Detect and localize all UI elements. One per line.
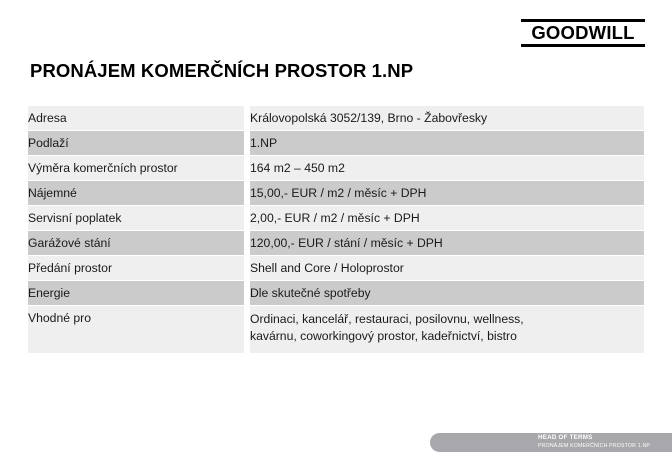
row-label: Energie: [28, 281, 250, 306]
table-row: Adresa Královopolská 3052/139, Brno - Ža…: [28, 106, 644, 131]
row-label: Podlaží: [28, 131, 250, 156]
footer-subtitle: PRONÁJEM KOMERČNÍCH PROSTOR 1.NP: [538, 442, 672, 450]
table-row: Vhodné pro Ordinaci, kancelář, restaurac…: [28, 306, 644, 353]
row-label: Servisní poplatek: [28, 206, 250, 231]
table-row: Energie Dle skutečné spotřeby: [28, 281, 644, 306]
row-value: 1.NP: [250, 131, 644, 156]
row-label: Vhodné pro: [28, 306, 250, 353]
row-value: 2,00,- EUR / m2 / měsíc + DPH: [250, 206, 644, 231]
footer-title: HEAD OF TERMS: [538, 433, 672, 442]
logo-rule-bottom: [521, 44, 645, 47]
table-row: Servisní poplatek 2,00,- EUR / m2 / měsí…: [28, 206, 644, 231]
row-label: Nájemné: [28, 181, 250, 206]
row-value: 15,00,- EUR / m2 / měsíc + DPH: [250, 181, 644, 206]
row-label: Výměra komerčních prostor: [28, 156, 250, 181]
table-row: Garážové stání 120,00,- EUR / stání / mě…: [28, 231, 644, 256]
row-label: Adresa: [28, 106, 250, 131]
table-row: Výměra komerčních prostor 164 m2 – 450 m…: [28, 156, 644, 181]
property-spec-table: Adresa Královopolská 3052/139, Brno - Ža…: [28, 106, 644, 353]
table-row: Podlaží 1.NP: [28, 131, 644, 156]
row-value: Královopolská 3052/139, Brno - Žabovřesk…: [250, 106, 644, 131]
row-value: 120,00,- EUR / stání / měsíc + DPH: [250, 231, 644, 256]
table-row: Předání prostor Shell and Core / Holopro…: [28, 256, 644, 281]
row-value-line-1: Ordinaci, kancelář, restauraci, posilovn…: [250, 311, 644, 328]
row-label: Předání prostor: [28, 256, 250, 281]
row-label: Garážové stání: [28, 231, 250, 256]
row-value-line-2: kavárnu, coworkingový prostor, kadeřnict…: [250, 328, 644, 345]
row-value: Ordinaci, kancelář, restauraci, posilovn…: [250, 306, 644, 353]
row-value: Shell and Core / Holoprostor: [250, 256, 644, 281]
table-row: Nájemné 15,00,- EUR / m2 / měsíc + DPH: [28, 181, 644, 206]
row-value: Dle skutečné spotřeby: [250, 281, 644, 306]
footer-text: HEAD OF TERMS PRONÁJEM KOMERČNÍCH PROSTO…: [538, 433, 672, 450]
goodwill-logo: GOODWILL: [521, 19, 645, 47]
page-title: PRONÁJEM KOMERČNÍCH PROSTOR 1.NP: [30, 60, 413, 82]
row-value: 164 m2 – 450 m2: [250, 156, 644, 181]
logo-text: GOODWILL: [521, 23, 645, 43]
